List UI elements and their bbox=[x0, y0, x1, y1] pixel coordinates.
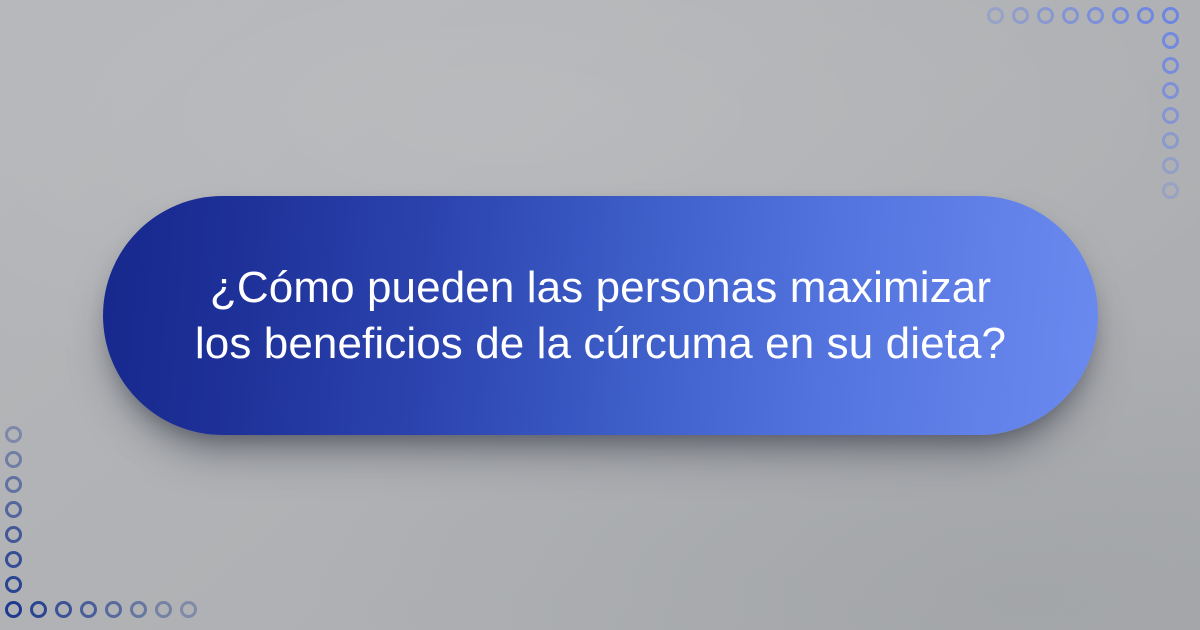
decorative-dot bbox=[155, 601, 172, 618]
decorative-dot bbox=[5, 551, 22, 568]
decorative-dot bbox=[80, 601, 97, 618]
decorative-dot bbox=[1012, 7, 1029, 24]
decorative-dot bbox=[1037, 7, 1054, 24]
decorative-dots-bottom-left bbox=[0, 420, 220, 630]
question-card: ¿Cómo pueden las personas maximizar los … bbox=[103, 196, 1098, 435]
decorative-dot bbox=[1162, 132, 1179, 149]
decorative-dot bbox=[5, 426, 22, 443]
decorative-dot bbox=[5, 576, 22, 593]
decorative-dot bbox=[130, 601, 147, 618]
decorative-dot bbox=[987, 7, 1004, 24]
decorative-dot bbox=[30, 601, 47, 618]
decorative-dot bbox=[1112, 7, 1129, 24]
decorative-dot bbox=[180, 601, 197, 618]
decorative-dot bbox=[5, 476, 22, 493]
decorative-dot bbox=[1087, 7, 1104, 24]
decorative-dot bbox=[5, 526, 22, 543]
question-text: ¿Cómo pueden las personas maximizar los … bbox=[125, 260, 1076, 372]
decorative-dot bbox=[1162, 182, 1179, 199]
decorative-dot bbox=[1162, 7, 1179, 24]
decorative-dots-top-right bbox=[980, 0, 1200, 210]
decorative-dot bbox=[1162, 107, 1179, 124]
decorative-dot bbox=[5, 451, 22, 468]
decorative-dot bbox=[5, 501, 22, 518]
decorative-dot bbox=[105, 601, 122, 618]
poster-canvas: ¿Cómo pueden las personas maximizar los … bbox=[0, 0, 1200, 630]
decorative-dot bbox=[5, 601, 22, 618]
decorative-dot bbox=[1062, 7, 1079, 24]
decorative-dot bbox=[1162, 82, 1179, 99]
decorative-dot bbox=[1162, 157, 1179, 174]
decorative-dot bbox=[55, 601, 72, 618]
decorative-dot bbox=[1162, 32, 1179, 49]
decorative-dot bbox=[1137, 7, 1154, 24]
decorative-dot bbox=[1162, 57, 1179, 74]
